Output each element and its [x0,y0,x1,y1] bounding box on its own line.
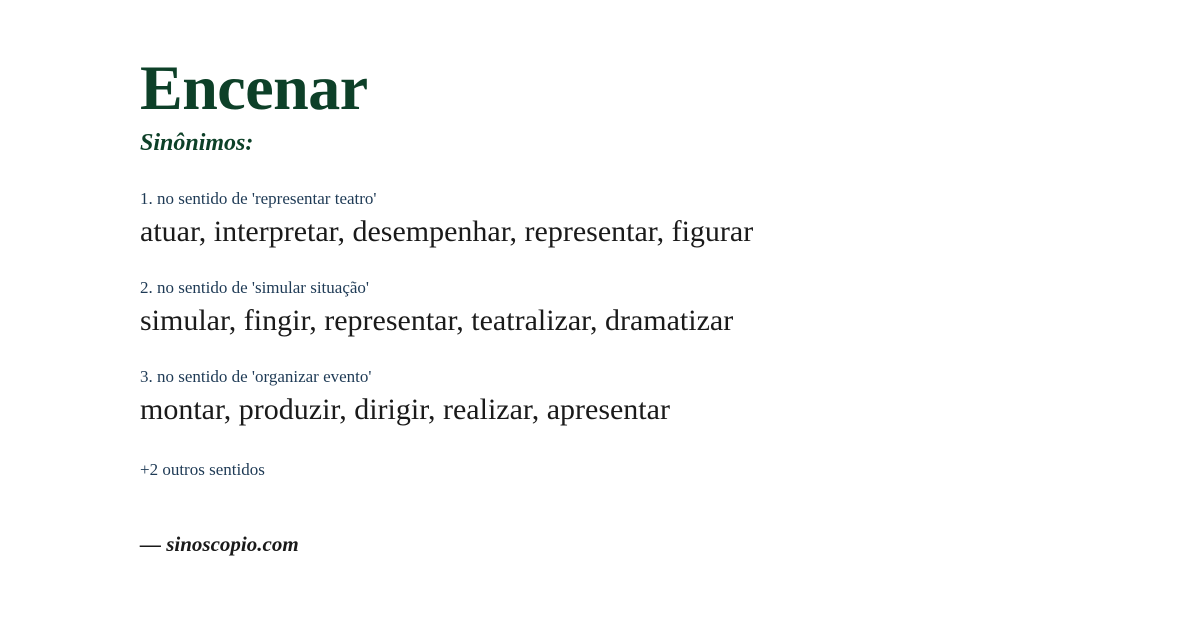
sense-entry-3: 3. no sentido de 'organizar evento' mont… [140,366,1140,429]
sense-entry-2: 2. no sentido de 'simular situação' simu… [140,277,1140,340]
sense-synonyms: atuar, interpretar, desempenhar, represe… [140,211,1140,251]
sense-list: 1. no sentido de 'representar teatro' at… [140,158,1140,429]
sense-synonyms: montar, produzir, dirigir, realizar, apr… [140,389,1140,429]
source-attribution: — sinoscopio.com [140,532,299,557]
sense-label: 2. no sentido de 'simular situação' [140,277,1140,300]
subtitle-synonyms-heading: Sinônimos: [140,122,1140,158]
sense-entry-1: 1. no sentido de 'representar teatro' at… [140,188,1140,251]
sense-label: 3. no sentido de 'organizar evento' [140,366,1140,389]
page-title: Encenar [140,0,1140,122]
more-senses-count: +2 outros sentidos [140,455,1140,482]
sense-label: 1. no sentido de 'representar teatro' [140,188,1140,211]
synonym-card: Encenar Sinônimos: 1. no sentido de 'rep… [0,0,1200,628]
sense-synonyms: simular, fingir, representar, teatraliza… [140,300,1140,340]
